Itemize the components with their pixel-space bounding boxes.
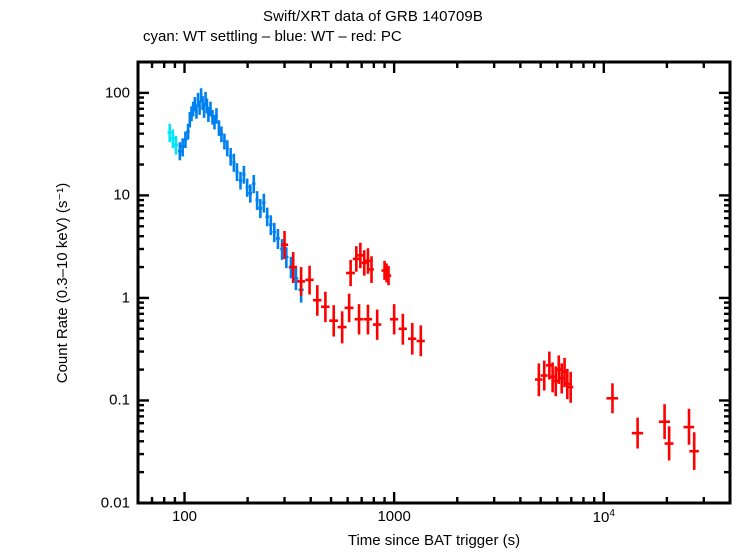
y-axis-label: Count Rate (0.3–10 keV) (s⁻¹)	[53, 53, 71, 513]
x-tick-label-1: 1000	[377, 508, 410, 525]
chart-figure: Swift/XRT data of GRB 140709B cyan: WT s…	[0, 0, 746, 558]
y-tick-label-3: 0.1	[58, 392, 130, 409]
x-tick-label-0: 100	[172, 508, 197, 525]
axis-ticks	[138, 62, 730, 503]
series-wt	[178, 88, 304, 302]
y-tick-label-0: 100	[58, 84, 130, 101]
x-tick-label-2: 104	[593, 508, 615, 526]
plot-frame	[138, 62, 730, 503]
y-tick-label-4: 0.01	[58, 495, 130, 512]
series-wt_settling	[168, 124, 178, 155]
y-tick-label-2: 1	[58, 289, 130, 306]
y-tick-label-1: 10	[58, 187, 130, 204]
series-pc	[281, 231, 699, 470]
x-axis-label: Time since BAT trigger (s)	[138, 532, 730, 549]
